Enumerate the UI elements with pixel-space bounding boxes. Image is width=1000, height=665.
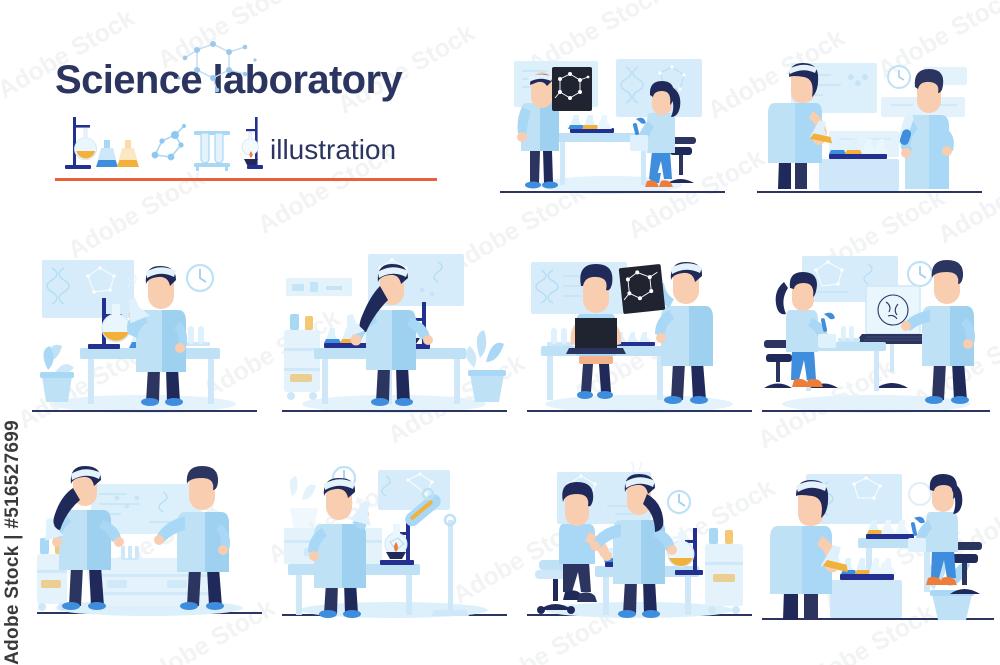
shoe-left (577, 391, 593, 399)
floor-line (527, 410, 752, 412)
header-icon-row (63, 115, 263, 182)
lab-coat-shade (689, 306, 713, 366)
shoe-left (371, 398, 389, 406)
shoe-back (577, 592, 597, 602)
shirt (559, 524, 595, 564)
lab-coat (647, 113, 675, 153)
scene-female-chemist-burner (282, 252, 507, 420)
test-tube-rack (547, 328, 573, 346)
leg-left (778, 159, 791, 189)
heel-shoe-back (806, 379, 823, 387)
leg-right (691, 362, 706, 400)
leg-left (187, 568, 201, 606)
hand-left (656, 333, 666, 343)
watermark-id-text: Adobe Stock | #516527699 (2, 420, 24, 665)
stand-base (876, 383, 908, 388)
leg-left (69, 566, 83, 606)
reagent-bottle-blue (709, 528, 718, 544)
hand-right (218, 545, 228, 555)
hand-right (667, 545, 677, 555)
ponytail (776, 282, 788, 314)
clock-hands (679, 494, 685, 506)
counter-front (819, 159, 899, 191)
hand-left (351, 335, 362, 346)
beaker-pair (121, 546, 139, 560)
scene-solo-chemist-at-bench (32, 252, 257, 420)
clock-hands (920, 266, 926, 278)
flask-burner-stand-icon (242, 117, 263, 169)
presentation-screen (854, 286, 932, 388)
lab-coat (926, 512, 958, 552)
hand-right (963, 339, 973, 349)
retort-stand-burner (380, 522, 414, 565)
lab-coat-shade (87, 510, 111, 570)
hand (602, 551, 612, 561)
hand-left (52, 537, 62, 547)
leg-right (396, 366, 410, 402)
scene-microscope-and-presentation (762, 252, 990, 420)
leg-left (146, 368, 160, 402)
shoe-right (395, 398, 413, 406)
trousers (791, 348, 816, 381)
scene-two-scientists-flask-and-tube (757, 55, 982, 205)
scene-laptop-analysis-and-xray (527, 252, 752, 420)
wall-clock (909, 483, 931, 505)
leg-right (643, 580, 657, 614)
floor-line (762, 410, 990, 412)
stool-seat (579, 356, 613, 364)
leg-right (207, 568, 222, 606)
leg-right (599, 364, 611, 392)
counter-front (830, 580, 902, 618)
x-ray-film (619, 264, 666, 314)
page-subtitle: illustration (270, 134, 396, 166)
shoe-right (88, 602, 106, 610)
x-ray-film (552, 67, 592, 111)
trousers (563, 560, 591, 593)
floor-line (32, 410, 257, 412)
leg-left (671, 362, 685, 400)
header-block: Science laboratory illustration (55, 60, 455, 100)
potted-plant (290, 476, 318, 530)
burner-base (386, 552, 406, 559)
shoe-left (925, 396, 943, 404)
shoe-right (951, 396, 969, 404)
shoe-left (618, 610, 636, 618)
shoe-right (165, 398, 183, 406)
shoe-right (642, 610, 660, 618)
reagent-bottle-blue (40, 538, 49, 554)
reagent-bottle-amber (725, 530, 733, 544)
lab-coat-shade (641, 520, 665, 584)
hand-left (309, 551, 319, 561)
scientist-female-at-microscope (908, 474, 962, 585)
supply-cart (705, 528, 743, 614)
reagent-bottle-amber (305, 316, 313, 330)
scene-two-scientists-discussion (37, 462, 262, 632)
shoe-left (62, 602, 80, 610)
floor-line (500, 191, 725, 193)
hand-left (517, 132, 527, 142)
shoe-left (664, 396, 682, 404)
shoe-left (319, 610, 337, 618)
reagent-bottle-blue (290, 314, 299, 330)
floor-line (282, 410, 507, 412)
scene-xray-review-and-microscope (500, 55, 725, 205)
leg-left (376, 366, 390, 402)
potted-plant (466, 330, 506, 402)
leg-right (543, 151, 553, 183)
hand-left (154, 535, 164, 545)
leg-left (783, 590, 798, 620)
scene-chemist-with-lamp (282, 462, 507, 632)
test-tube-rack (184, 326, 210, 346)
leg-right (804, 590, 818, 620)
flask-liquid (103, 332, 129, 341)
lab-coat-shade (342, 524, 366, 588)
hand-right (114, 537, 124, 547)
leg-left (623, 580, 637, 614)
scene-assistant-and-supervisor (527, 462, 752, 632)
dna-board (42, 260, 134, 318)
shoe-left (180, 602, 198, 610)
hand-left (590, 541, 600, 551)
shoe-left (525, 182, 541, 189)
flask-rack-top (866, 520, 914, 539)
molecule-icon (155, 127, 183, 157)
shoe-left (141, 398, 159, 406)
leg-left (530, 151, 540, 183)
shoe-right (597, 391, 613, 399)
conical-flask-orange-icon (117, 140, 139, 167)
test-tube-rack-icon (194, 131, 230, 171)
leg-right (952, 362, 967, 400)
hand-right (175, 343, 185, 353)
shoe-right (343, 610, 361, 618)
stand-pole (890, 344, 894, 372)
header-divider (55, 178, 437, 181)
dna-board (531, 262, 627, 314)
conical-flask-blue-icon (96, 140, 118, 167)
leg-left (581, 364, 593, 392)
clock-hands (200, 269, 206, 282)
illustration-sheet: Adobe Stock Adobe Stock Adobe Stock Adob… (0, 0, 1000, 665)
test-tubes (838, 326, 860, 342)
scene-back-view-chemist-and-microscope (762, 462, 994, 632)
hand-left (901, 321, 911, 331)
lab-coat (786, 310, 818, 352)
leg-right (166, 368, 180, 402)
shoe-right (542, 182, 558, 189)
shoe-right (690, 396, 708, 404)
clock-hands (899, 70, 904, 80)
laptop (566, 318, 626, 354)
floor-line (757, 191, 982, 193)
shoe-right (206, 602, 224, 610)
hand-left (901, 148, 911, 158)
lamp-base (431, 610, 469, 616)
leg-left (932, 362, 946, 400)
hand-right (942, 146, 952, 156)
leg-right (795, 159, 807, 189)
molecule-deco (175, 38, 265, 101)
flask-on-stand-icon (65, 117, 97, 169)
potted-plant (40, 345, 74, 402)
flask-rack (568, 115, 614, 133)
hand-right (423, 335, 433, 345)
